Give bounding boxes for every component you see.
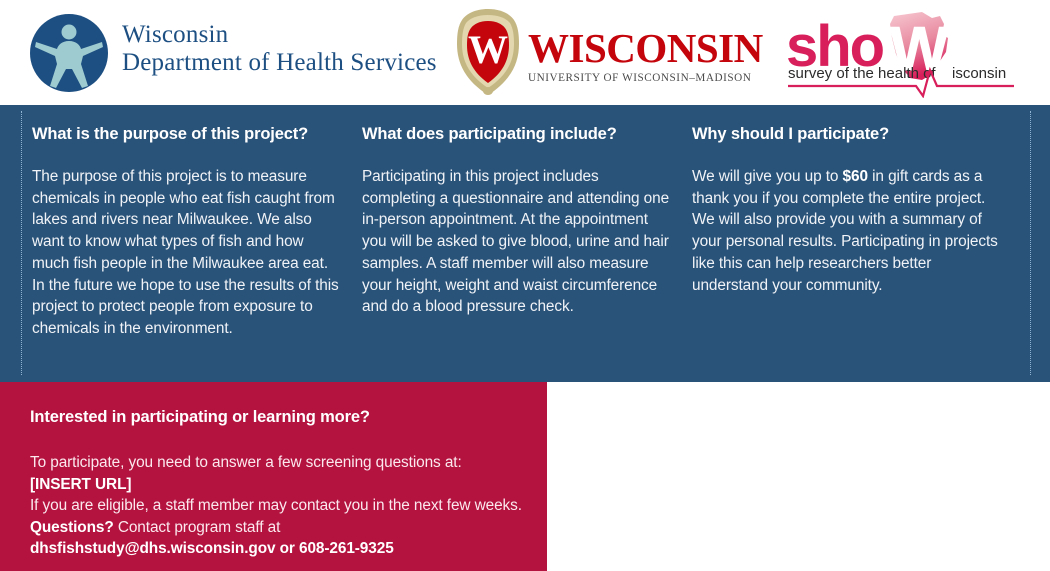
dhs-wordmark-line1: Wisconsin — [122, 21, 452, 49]
svg-text:W: W — [468, 27, 508, 72]
column-heading-purpose: What is the purpose of this project? — [32, 125, 344, 144]
column-heading-participating: What does participating include? — [362, 125, 674, 144]
svg-text:survey of the health of: survey of the health of — [788, 65, 936, 82]
show-logo: sho W survey of the health of isconsin — [782, 8, 1020, 98]
info-columns: What is the purpose of this project? The… — [32, 125, 1022, 340]
divider-dotted-left — [21, 111, 23, 375]
column-body-participating: Participating in this project includes c… — [362, 166, 674, 318]
incentive-amount: $60 — [843, 168, 868, 185]
cta-url-placeholder[interactable]: [INSERT URL] — [30, 476, 131, 493]
cta-line3: Contact program staff at — [114, 519, 281, 536]
uw-wordmark-subtitle: UNIVERSITY OF WISCONSIN–MADISON — [528, 72, 740, 84]
why-text-part1: We will give you up to — [692, 168, 843, 185]
column-body-purpose: The purpose of this project is to measur… — [32, 166, 344, 340]
dhs-wordmark-line2: Department of Health Services — [122, 49, 452, 77]
wisconsin-dhs-logo: Wisconsin Department of Health Services — [28, 10, 428, 94]
call-to-action-panel-red: Interested in participating or learning … — [0, 382, 547, 571]
info-column-why: Why should I participate? We will give y… — [692, 125, 1022, 340]
cta-heading: Interested in participating or learning … — [30, 408, 370, 427]
cta-body: To participate, you need to answer a few… — [30, 452, 530, 560]
cta-questions-label: Questions? — [30, 519, 114, 536]
info-column-purpose: What is the purpose of this project? The… — [32, 125, 362, 340]
dhs-person-circle-icon — [28, 12, 110, 94]
column-heading-why: Why should I participate? — [692, 125, 1004, 144]
uw-wordmark-text: WISCONSIN — [528, 28, 740, 69]
uw-crest-icon: W — [452, 6, 524, 98]
column-body-why: We will give you up to $60 in gift cards… — [692, 166, 1004, 296]
logo-bar: Wisconsin Department of Health Services … — [0, 0, 1050, 105]
uw-wordmark: WISCONSIN UNIVERSITY OF WISCONSIN–MADISO… — [528, 28, 740, 84]
why-text-part2: in gift cards as a thank you if you comp… — [692, 168, 998, 294]
cta-contact[interactable]: dhsfishstudy@dhs.wisconsin.gov or 608-26… — [30, 540, 394, 557]
info-panel-blue: What is the purpose of this project? The… — [0, 105, 1050, 382]
dhs-wordmark: Wisconsin Department of Health Services — [122, 21, 452, 77]
info-column-participating: What does participating include? Partici… — [362, 125, 692, 340]
cta-line1: To participate, you need to answer a few… — [30, 454, 462, 471]
show-survey-logo-icon: sho W survey of the health of isconsin — [782, 8, 1020, 98]
uw-madison-logo: W WISCONSIN UNIVERSITY OF WISCONSIN–MADI… — [452, 6, 742, 98]
svg-text:isconsin: isconsin — [952, 65, 1006, 82]
cta-line2: If you are eligible, a staff member may … — [30, 497, 522, 514]
divider-dotted-right — [1030, 111, 1032, 375]
